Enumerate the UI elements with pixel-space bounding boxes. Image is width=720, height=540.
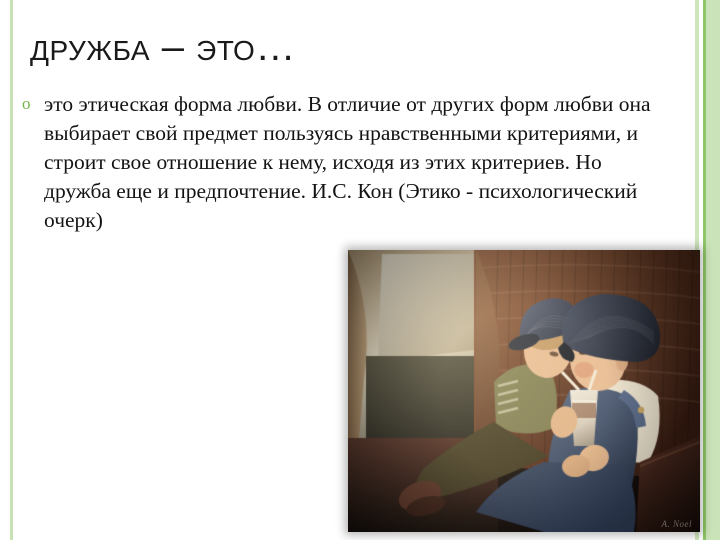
title-block: Дружба – это… bbox=[30, 22, 670, 72]
slide-picture: A. Noel bbox=[348, 250, 700, 532]
bullet-circle-icon: o bbox=[22, 90, 44, 112]
body-text-block: o это этическая форма любви. В отличие о… bbox=[22, 90, 662, 235]
list-item: o это этическая форма любви. В отличие о… bbox=[22, 90, 662, 235]
left-accent-rule bbox=[10, 0, 13, 540]
list-item-text: это этическая форма любви. В отличие от … bbox=[44, 90, 662, 235]
page-title: Дружба – это… bbox=[30, 22, 670, 72]
right-accent-rule-band bbox=[706, 0, 720, 540]
presentation-slide: Дружба – это… o это этическая форма любв… bbox=[0, 0, 720, 540]
painting-canvas bbox=[348, 250, 700, 532]
